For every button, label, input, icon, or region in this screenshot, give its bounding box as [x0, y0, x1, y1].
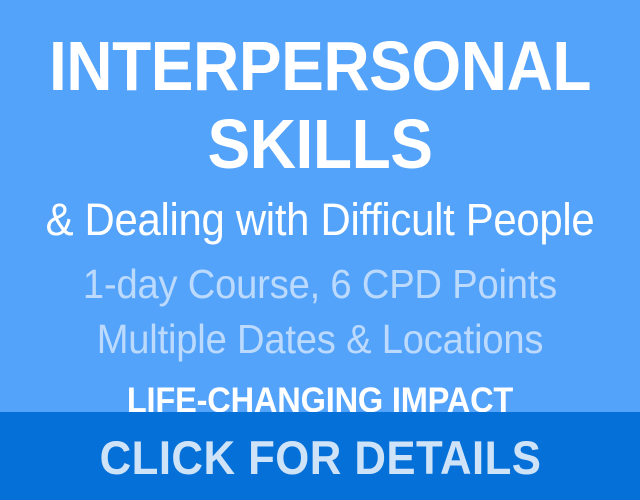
headline-line-2: SKILLS — [27, 105, 613, 183]
banner-content: INTERPERSONAL SKILLS & Dealing with Diff… — [0, 0, 640, 412]
banner-subtitle: & Dealing with Difficult People — [22, 195, 617, 245]
cta-label: CLICK FOR DETAILS — [99, 432, 541, 484]
headline-line-1: INTERPERSONAL — [27, 27, 613, 105]
course-detail-duration-cpd: 1-day Course, 6 CPD Points — [22, 261, 617, 307]
course-detail-dates-locations: Multiple Dates & Locations — [22, 316, 617, 362]
click-for-details-button[interactable]: CLICK FOR DETAILS — [0, 412, 640, 500]
advertisement-banner[interactable]: INTERPERSONAL SKILLS & Dealing with Diff… — [0, 0, 640, 500]
